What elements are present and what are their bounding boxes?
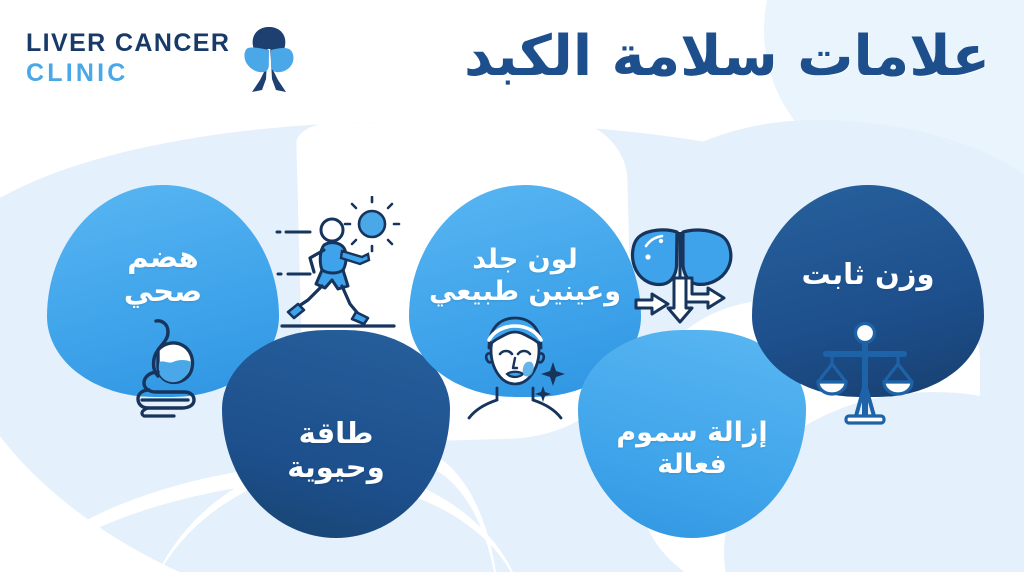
- bubble-label-effective-detox: إزالة سموم فعالة: [616, 387, 767, 481]
- running-person-sun-icon: [272, 196, 402, 336]
- page-title: علامات سلامة الكبد: [464, 24, 990, 89]
- stomach-intestine-icon: [112, 312, 224, 420]
- header: LIVER CANCER CLINIC علامات سلامة الكبد: [0, 0, 1024, 122]
- liver-ribbon-logo-icon: [240, 22, 298, 94]
- glowing-face-icon: [455, 310, 575, 422]
- bubble-label-stable-weight: وزن ثابت: [802, 257, 935, 325]
- logo-text-primary: LIVER CANCER: [26, 31, 230, 56]
- brand-logo[interactable]: LIVER CANCER CLINIC: [26, 22, 298, 94]
- liver-detox-arrows-icon: [626, 212, 750, 332]
- balance-scale-person-icon: [810, 320, 920, 432]
- infographic-canvas: LIVER CANCER CLINIC علامات سلامة الكبد ه…: [0, 0, 1024, 572]
- logo-text-secondary: CLINIC: [26, 61, 230, 86]
- bubble-label-energy-vitality: طاقة وحيوية: [287, 384, 384, 484]
